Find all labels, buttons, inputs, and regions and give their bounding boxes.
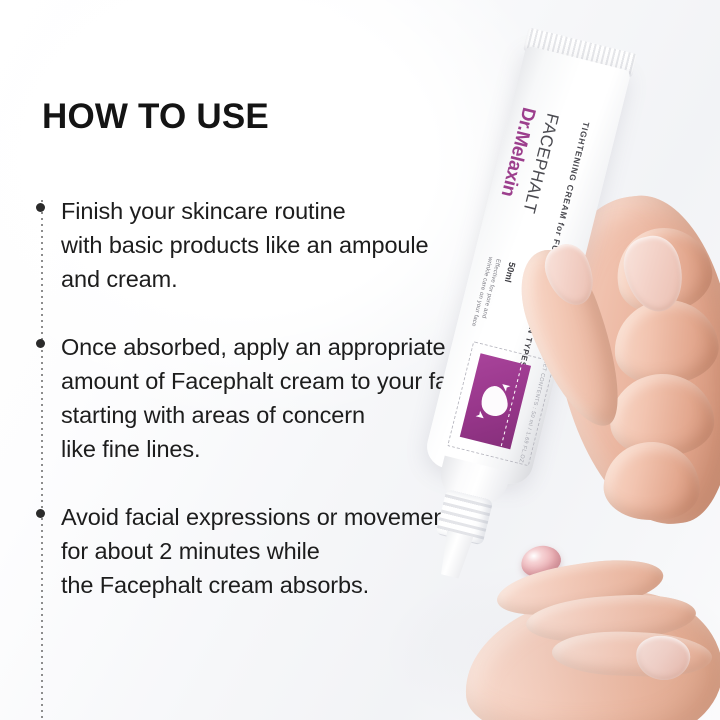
how-to-use-banner: HOW TO USE Finish your skincare routine … — [0, 0, 720, 720]
bullet-dot-icon — [36, 509, 45, 518]
bullet-dot-icon — [36, 339, 45, 348]
instruction-text: Finish your skincare routine with basic … — [61, 194, 428, 296]
product-volume: 50ml — [503, 261, 518, 283]
receiving-hand — [440, 540, 720, 720]
product-description: Effective for pore and wrinkle care on y… — [462, 256, 502, 357]
bullet-dot-icon — [36, 203, 45, 212]
page-title: HOW TO USE — [42, 99, 269, 134]
list-item: Finish your skincare routine with basic … — [36, 194, 428, 296]
